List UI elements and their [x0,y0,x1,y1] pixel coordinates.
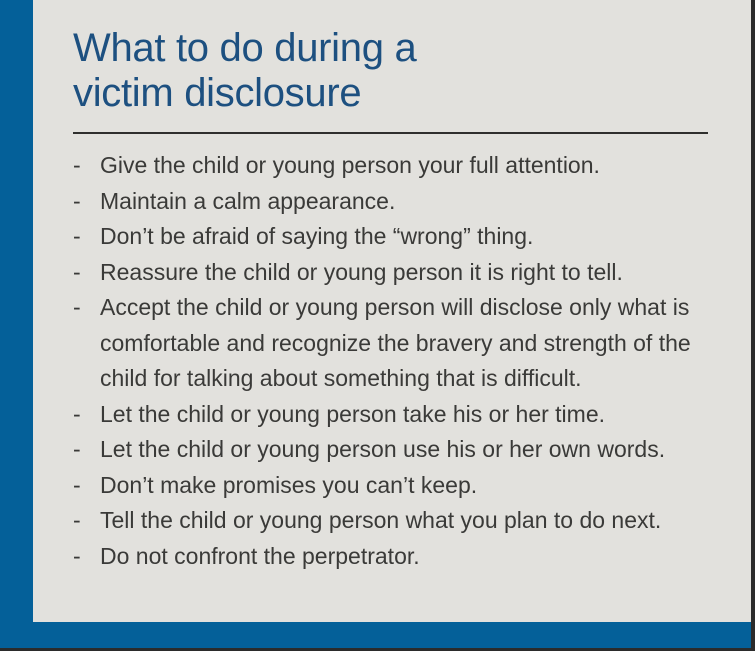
bullet-dash-icon: - [73,148,100,184]
list-item: -Don’t make promises you can’t keep. [73,468,738,504]
right-border-edge [751,0,755,651]
bullet-dash-icon: - [73,397,100,433]
infographic-card: What to do during a victim disclosure -G… [0,0,755,651]
list-item-label: Accept the child or young person will di… [100,290,738,397]
list-item-label: Don’t make promises you can’t keep. [100,468,738,504]
list-item: -Accept the child or young person will d… [73,290,738,397]
list-item-label: Let the child or young person take his o… [100,397,738,433]
list-item-label: Do not confront the perpetrator. [100,539,738,575]
list-item: -Reassure the child or young person it i… [73,255,738,291]
bullet-dash-icon: - [73,539,100,575]
content-panel: What to do during a victim disclosure -G… [33,0,751,622]
list-item-label: Give the child or young person your full… [100,148,738,184]
bullet-dash-icon: - [73,468,100,504]
title-divider [73,132,708,134]
list-item: -Maintain a calm appearance. [73,184,738,220]
page-title-line-2: victim disclosure [73,71,713,116]
bullet-dash-icon: - [73,503,100,539]
list-item-label: Let the child or young person use his or… [100,432,738,468]
list-item: -Give the child or young person your ful… [73,148,738,184]
left-accent-bar [0,0,33,648]
list-item: -Let the child or young person take his … [73,397,738,433]
list-item-label: Maintain a calm appearance. [100,184,738,220]
bullet-dash-icon: - [73,184,100,220]
list-item-label: Tell the child or young person what you … [100,503,738,539]
bottom-accent-bar [0,622,751,648]
bullet-dash-icon: - [73,219,100,255]
list-item-label: Don’t be afraid of saying the “wrong” th… [100,219,738,255]
bullet-dash-icon: - [73,290,100,326]
list-item: -Let the child or young person use his o… [73,432,738,468]
bullet-dash-icon: - [73,432,100,468]
page-title: What to do during a victim disclosure [73,26,713,116]
guidance-list: -Give the child or young person your ful… [73,148,738,574]
list-item: -Don’t be afraid of saying the “wrong” t… [73,219,738,255]
list-item: -Do not confront the perpetrator. [73,539,738,575]
page-title-line-1: What to do during a [73,26,713,71]
list-item-label: Reassure the child or young person it is… [100,255,738,291]
list-item: -Tell the child or young person what you… [73,503,738,539]
bullet-dash-icon: - [73,255,100,291]
